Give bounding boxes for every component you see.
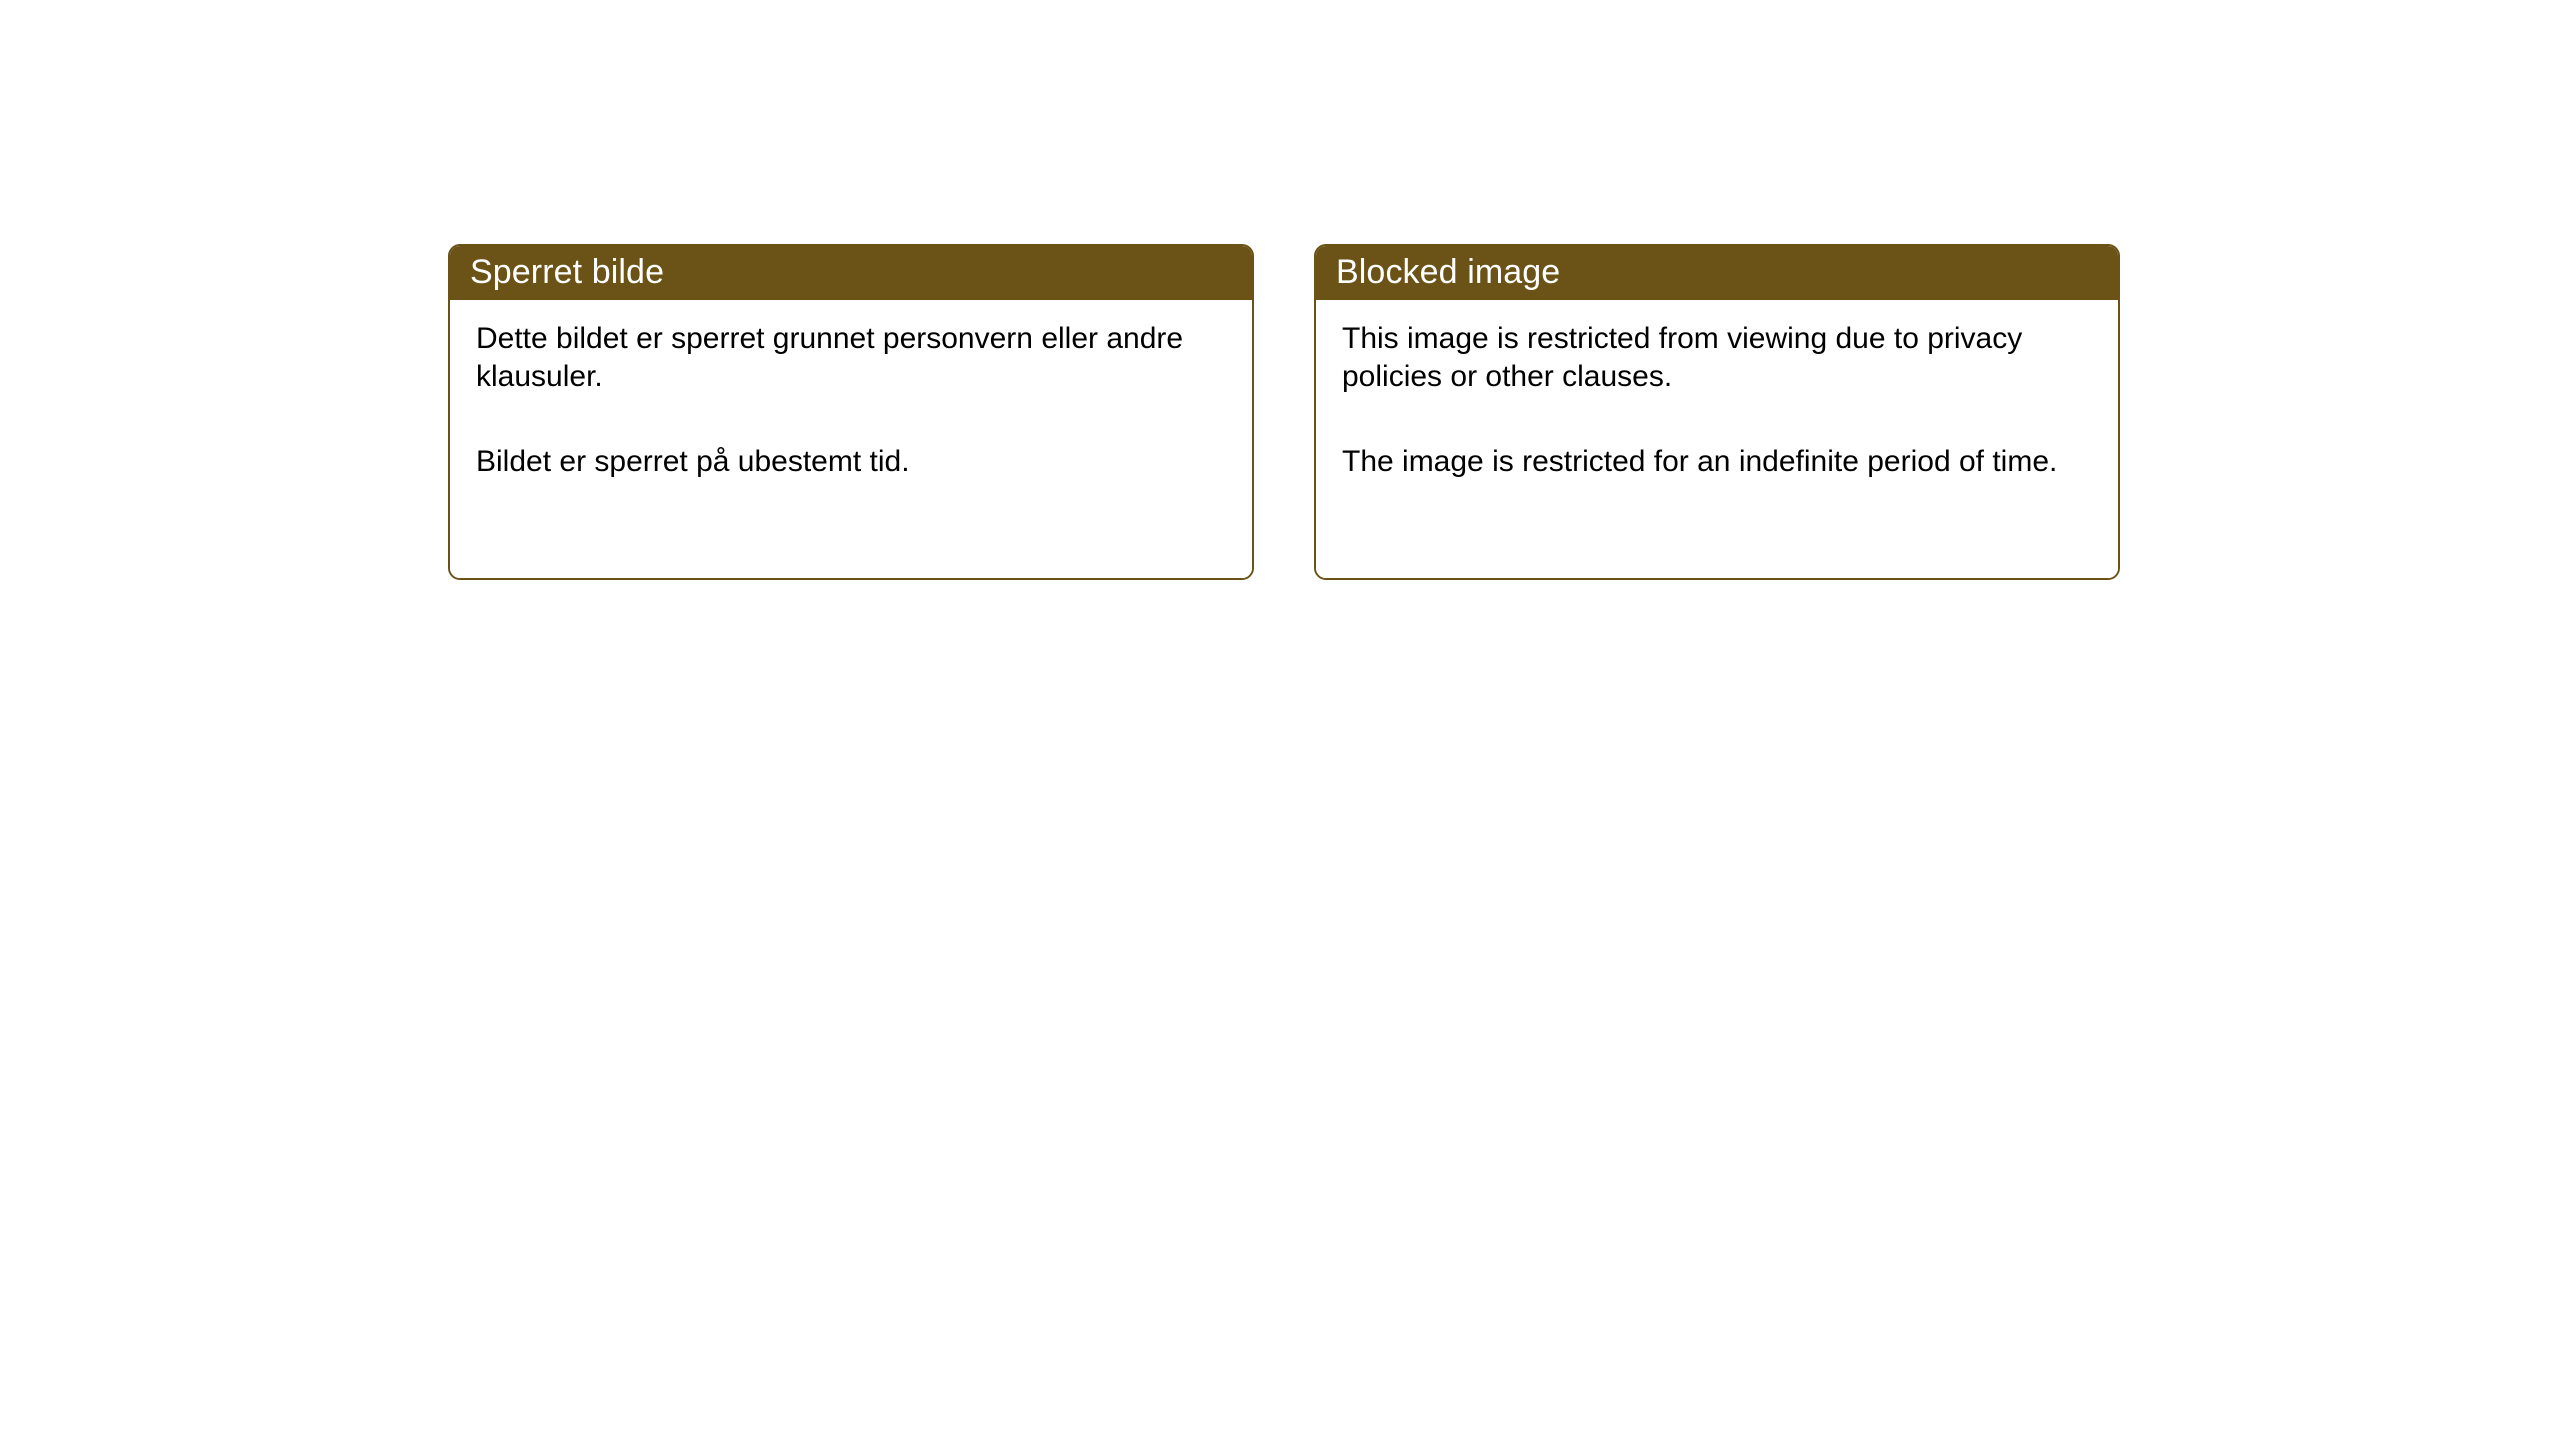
card-paragraph-norwegian-1: Dette bildet er sperret grunnet personve… xyxy=(476,320,1226,397)
card-title-norwegian: Sperret bilde xyxy=(470,255,664,289)
card-paragraph-english-2: The image is restricted for an indefinit… xyxy=(1342,443,2092,481)
card-paragraph-norwegian-2: Bildet er sperret på ubestemt tid. xyxy=(476,443,1226,481)
blocked-image-card-norwegian: Sperret bilde Dette bildet er sperret gr… xyxy=(448,244,1254,580)
blocked-image-notice-area: Sperret bilde Dette bildet er sperret gr… xyxy=(448,244,2120,580)
card-body-norwegian: Dette bildet er sperret grunnet personve… xyxy=(450,300,1252,578)
card-header-english: Blocked image xyxy=(1314,244,2120,300)
card-paragraph-english-1: This image is restricted from viewing du… xyxy=(1342,320,2092,397)
blocked-image-card-english: Blocked image This image is restricted f… xyxy=(1314,244,2120,580)
card-title-english: Blocked image xyxy=(1336,255,1560,289)
card-header-norwegian: Sperret bilde xyxy=(448,244,1254,300)
card-body-english: This image is restricted from viewing du… xyxy=(1316,300,2118,578)
